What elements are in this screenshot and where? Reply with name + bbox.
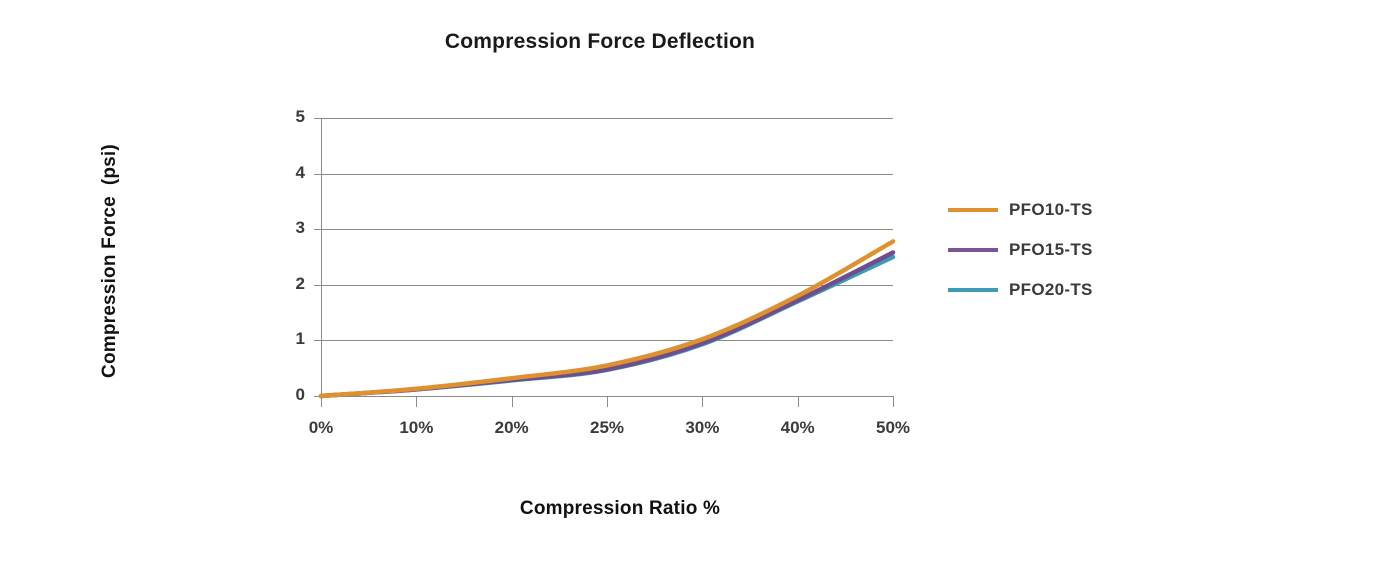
x-tick-label: 25%: [562, 418, 652, 438]
legend-item[interactable]: PFO20-TS: [948, 270, 1168, 310]
y-tick-mark: [314, 285, 321, 286]
x-tick-mark: [321, 397, 322, 407]
series-line: [321, 257, 893, 396]
x-tick-label: 10%: [371, 418, 461, 438]
series-lines: [321, 118, 893, 397]
x-tick-mark: [416, 397, 417, 407]
series-line: [321, 253, 893, 396]
chart-legend: PFO10-TSPFO15-TSPFO20-TS: [948, 190, 1168, 310]
chart-title: Compression Force Deflection: [0, 30, 1200, 54]
y-tick-mark: [314, 229, 321, 230]
x-tick-mark: [893, 397, 894, 407]
x-tick-mark: [798, 397, 799, 407]
x-tick-mark: [607, 397, 608, 407]
legend-item[interactable]: PFO15-TS: [948, 230, 1168, 270]
y-axis-title: Compression Force (psi): [99, 91, 121, 431]
legend-color-swatch: [948, 288, 998, 292]
legend-label: PFO10-TS: [1009, 200, 1093, 220]
legend-color-swatch: [948, 248, 998, 252]
y-tick-label: 0: [265, 385, 305, 405]
x-tick-mark: [512, 397, 513, 407]
x-tick-label: 50%: [848, 418, 938, 438]
series-line: [321, 241, 893, 396]
plot-area: 0123450%10%20%25%30%40%50%: [321, 118, 893, 396]
x-tick-label: 30%: [657, 418, 747, 438]
legend-label: PFO20-TS: [1009, 280, 1093, 300]
legend-item[interactable]: PFO10-TS: [948, 190, 1168, 230]
y-tick-label: 4: [265, 163, 305, 183]
legend-label: PFO15-TS: [1009, 240, 1093, 260]
y-tick-label: 3: [265, 218, 305, 238]
y-tick-label: 2: [265, 274, 305, 294]
x-tick-mark: [702, 397, 703, 407]
x-tick-label: 40%: [753, 418, 843, 438]
y-tick-mark: [314, 340, 321, 341]
legend-color-swatch: [948, 208, 998, 212]
x-axis-title: Compression Ratio %: [320, 498, 920, 520]
x-tick-label: 20%: [467, 418, 557, 438]
y-tick-label: 1: [265, 329, 305, 349]
y-tick-mark: [314, 118, 321, 119]
y-tick-label: 5: [265, 107, 305, 127]
chart-figure: Compression Force Deflection Compression…: [0, 0, 1389, 576]
y-tick-mark: [314, 174, 321, 175]
x-tick-label: 0%: [276, 418, 366, 438]
